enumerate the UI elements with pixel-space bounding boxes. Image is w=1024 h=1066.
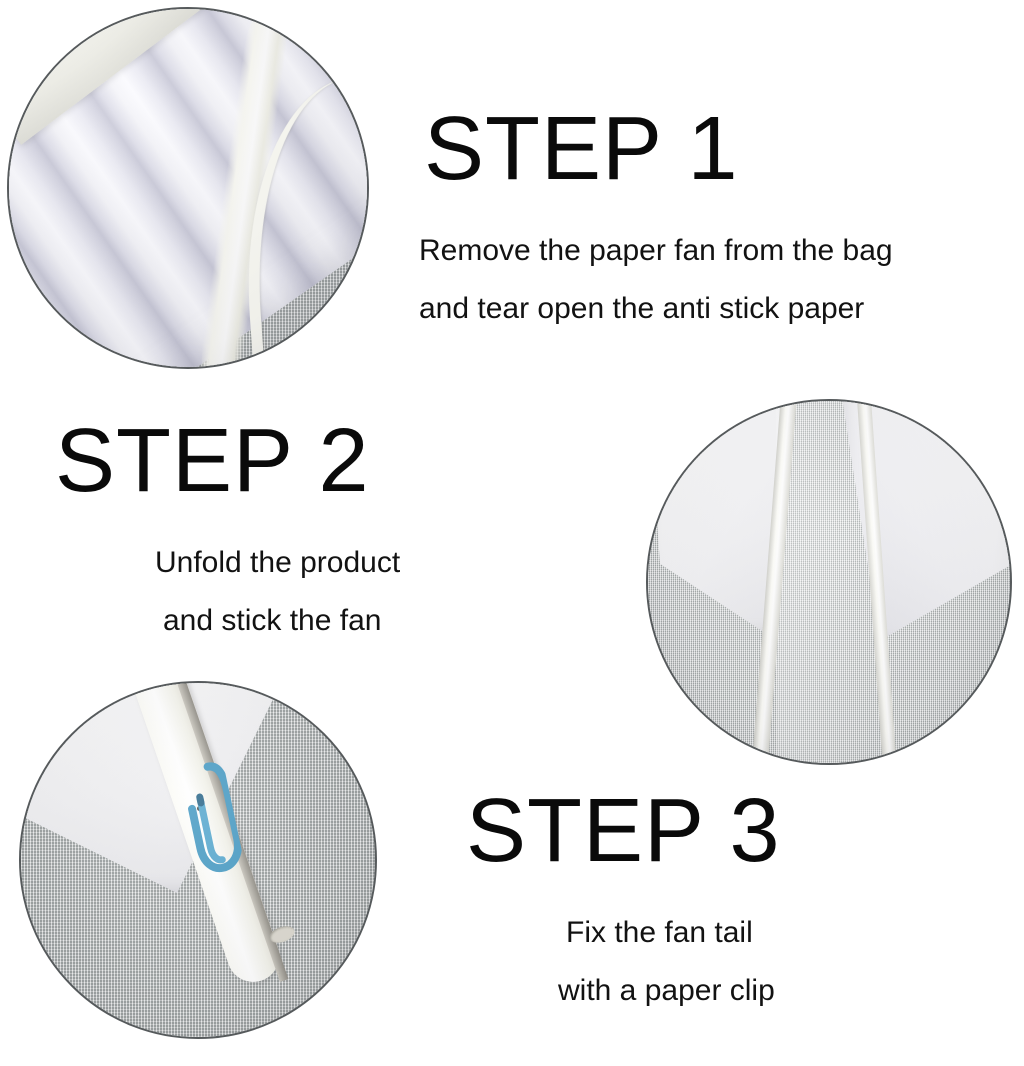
step-2-heading: STEP 2 (55, 416, 370, 506)
step-3-heading: STEP 3 (466, 786, 781, 876)
step-1-body-line-2: and tear open the anti stick paper (419, 280, 893, 338)
step-3-photo-content (21, 683, 375, 1037)
step-2-body: Unfold the product and stick the fan (155, 534, 400, 649)
step-1-photo-content (9, 9, 367, 367)
step-2-photo (646, 399, 1012, 765)
step-1-photo (7, 7, 369, 369)
step-3-photo (19, 681, 377, 1039)
step-3-body: Fix the fan tail with a paper clip (566, 904, 775, 1019)
photo-vignette (21, 683, 375, 1037)
step-1-body-line-1: Remove the paper fan from the bag (419, 222, 893, 280)
step-2-body-line-2: and stick the fan (155, 592, 400, 650)
step-1-body: Remove the paper fan from the bag and te… (419, 222, 893, 337)
step-3-body-line-1: Fix the fan tail (566, 904, 775, 962)
step-1-heading: STEP 1 (424, 104, 739, 194)
photo-vignette (9, 9, 367, 367)
step-3-body-line-2: with a paper clip (558, 962, 775, 1020)
step-2-photo-content (648, 401, 1010, 763)
photo-vignette (648, 401, 1010, 763)
step-2-body-line-1: Unfold the product (155, 534, 400, 592)
